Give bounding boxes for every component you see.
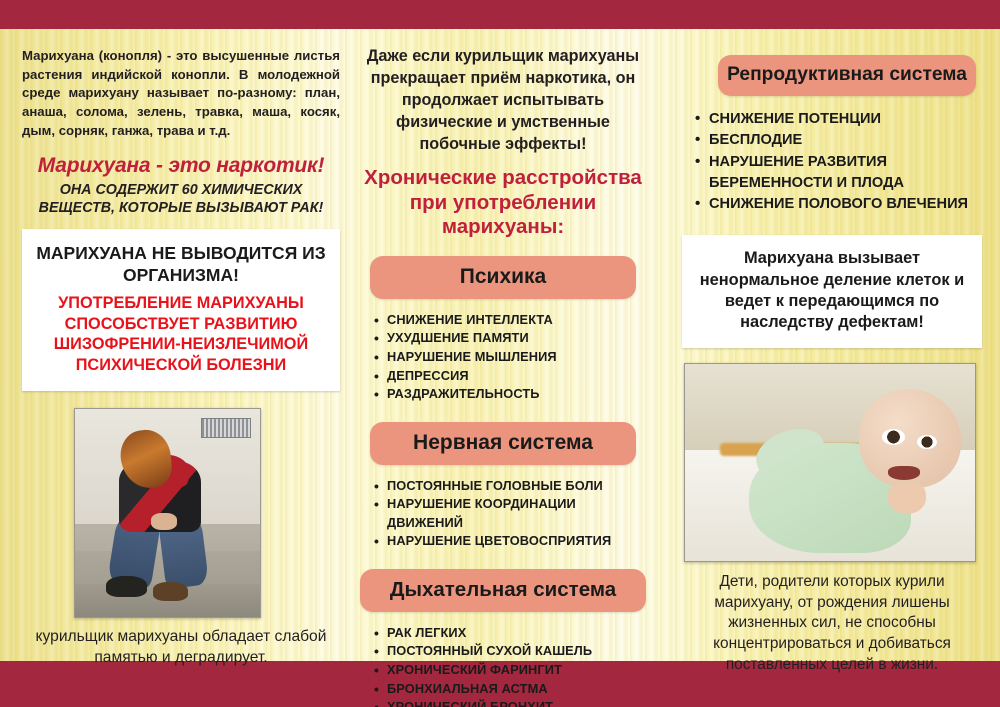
list-item: ПОСТОЯННЫЙ СУХОЙ КАШЕЛЬ [374,642,648,661]
list-item: НАРУШЕНИЕ КООРДИНАЦИИ [374,495,648,514]
list-item: БЕСПЛОДИЕ [695,130,982,151]
list-nervous-system: ПОСТОЯННЫЕ ГОЛОВНЫЕ БОЛИ НАРУШЕНИЕ КООРД… [358,477,648,551]
smoker-photo-left-shoe [106,576,147,597]
list-item-continuation: ДВИЖЕНИЙ [374,514,648,533]
list-item: РАЗДРАЖИТЕЛЬНОСТЬ [374,385,648,404]
heading-pill-nervous-system: Нервная система [370,422,636,465]
heading-pill-respiratory-system: Дыхательная система [360,569,646,612]
smoker-photo-vent [201,418,251,439]
list-item: НАРУШЕНИЕ ЦВЕТОВОСПРИЯТИЯ [374,532,648,551]
list-psyche: СНИЖЕНИЕ ИНТЕЛЛЕКТА УХУДШЕНИЕ ПАМЯТИ НАР… [358,311,648,404]
list-item: РАК ЛЕГКИХ [374,624,648,643]
middle-section-title: Хронические расстройства при употреблени… [358,166,648,240]
infant-photo-mouth [888,466,920,480]
column-right: Репродуктивная система СНИЖЕНИЕ ПОТЕНЦИИ… [682,29,982,676]
photo-caption-right: Дети, родители которых курили марихуану,… [682,572,982,676]
list-respiratory-system: РАК ЛЕГКИХ ПОСТОЯННЫЙ СУХОЙ КАШЕЛЬ ХРОНИ… [358,624,648,707]
alert-box-left: МАРИХУАНА НЕ ВЫВОДИТСЯ ИЗ ОРГАНИЗМА! УПО… [22,229,340,392]
photo-infant [684,363,976,562]
list-reproductive-system: СНИЖЕНИЕ ПОТЕНЦИИ БЕСПЛОДИЕ НАРУШЕНИЕ РА… [682,109,982,215]
photo-caption-left: курильщик марихуаны обладает слабой памя… [22,627,340,668]
column-left: Марихуана (конопля) - это высушенные лис… [22,29,340,669]
list-item: ПОСТОЯННЫЕ ГОЛОВНЫЕ БОЛИ [374,477,648,496]
middle-lead-text: Даже если курильщик марихуаны прекращает… [358,45,648,155]
list-item: БРОНХИАЛЬНАЯ АСТМА [374,680,648,699]
list-item: НАРУШЕНИЕ МЫШЛЕНИЯ [374,348,648,367]
list-item: ДЕПРЕССИЯ [374,367,648,386]
top-maroon-band [0,0,1000,29]
intro-lead-word: Марихуана [22,48,94,63]
infant-photo-left-eye [882,429,905,445]
slogan-subline: ОНА СОДЕРЖИТ 60 ХИМИЧЕСКИХ ВЕЩЕСТВ, КОТО… [22,181,340,217]
list-item: СНИЖЕНИЕ ПОЛОВОГО ВЛЕЧЕНИЯ [695,194,982,215]
list-item: ХРОНИЧЕСКИЙ БРОНХИТ [374,698,648,707]
list-item: СНИЖЕНИЕ ПОТЕНЦИИ [695,109,982,130]
alert-box-left-red-text: УПОТРЕБЛЕНИЕ МАРИХУАНЫ СПОСОБСТВУЕТ РАЗВ… [32,293,330,375]
smoker-photo-hands [151,513,177,530]
infant-photo-hand [888,482,926,514]
alert-box-right: Марихуана вызывает ненормальное деление … [682,235,982,347]
intro-paragraph: Марихуана (конопля) - это высушенные лис… [22,47,340,141]
list-item: СНИЖЕНИЕ ИНТЕЛЛЕКТА [374,311,648,330]
list-item-continuation: БЕРЕМЕННОСТИ И ПЛОДА [695,173,982,194]
column-middle: Даже если курильщик марихуаны прекращает… [358,29,648,707]
poster-canvas: Марихуана (конопля) - это высушенные лис… [0,0,1000,707]
photo-smoker [74,408,261,618]
alert-box-left-black-text: МАРИХУАНА НЕ ВЫВОДИТСЯ ИЗ ОРГАНИЗМА! [32,243,330,286]
slogan-headline: Марихуана - это наркотик! [22,154,340,178]
heading-pill-reproductive-system: Репродуктивная система [718,55,976,96]
list-item: НАРУШЕНИЕ РАЗВИТИЯ [695,152,982,173]
list-item: ХРОНИЧЕСКИЙ ФАРИНГИТ [374,661,648,680]
list-item: УХУДШЕНИЕ ПАМЯТИ [374,329,648,348]
heading-pill-psyche: Психика [370,256,636,299]
smoker-photo-right-shoe [153,582,188,601]
